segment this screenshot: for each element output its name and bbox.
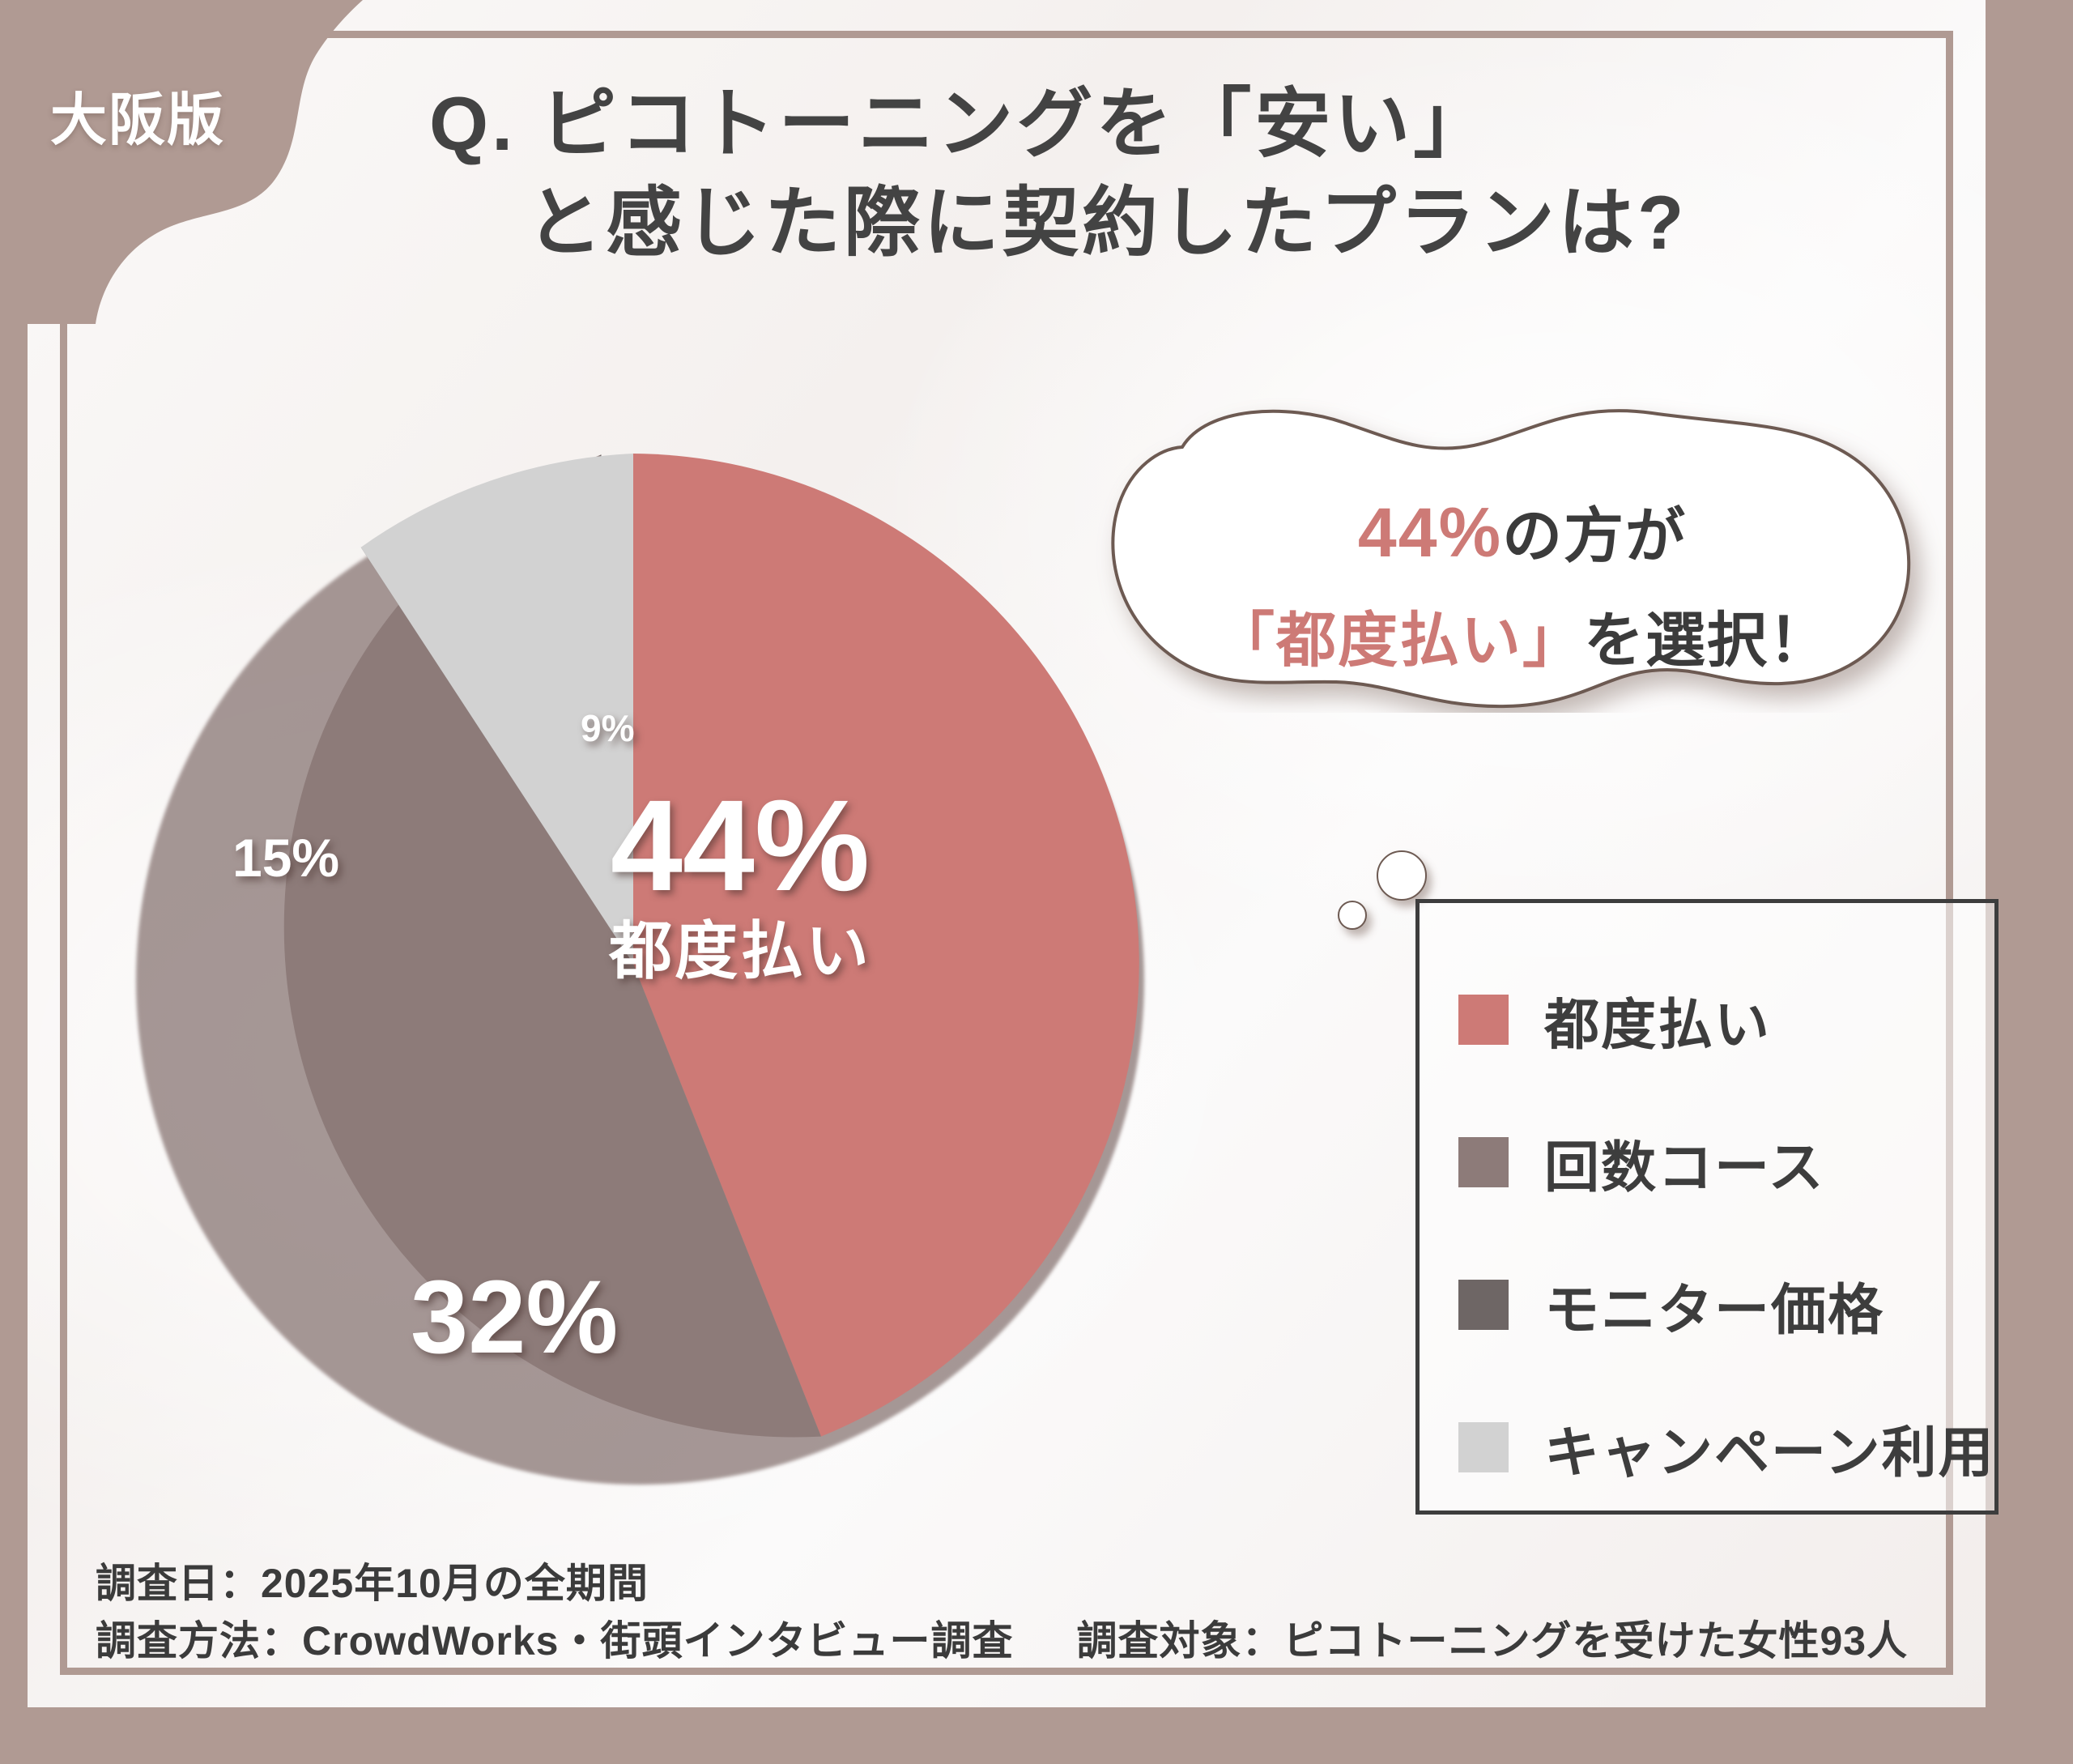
pie-label-todobarai-value: 44% <box>611 773 870 918</box>
callout-line-2: 「都度払い」を選択！ <box>1077 591 1968 690</box>
callout-bubble-text: 44%の方が 「都度払い」を選択！ <box>1077 476 1968 690</box>
legend-swatch-kaisu-course <box>1458 1137 1509 1187</box>
legend-label-kaisu-course: 回数コース <box>1544 1123 1825 1203</box>
callout-tail-dot-large <box>1377 850 1427 901</box>
callout-tail-dot-small <box>1338 901 1367 930</box>
legend-label-monitor-kakaku: モニター価格 <box>1544 1265 1884 1345</box>
legend-swatch-monitor-kakaku <box>1458 1280 1509 1330</box>
callout-line-2-rest: を選択！ <box>1584 607 1830 674</box>
pie-label-todobarai-sub: 都度払い <box>609 918 871 985</box>
pie-label-todobarai: 44% 都度払い <box>609 778 871 985</box>
pie-label-campaign: 9% <box>581 709 634 748</box>
legend-label-todobarai: 都度払い <box>1544 980 1771 1060</box>
legend-swatch-todobarai <box>1458 995 1509 1045</box>
callout-line-1: 44%の方が <box>1077 476 1968 591</box>
callout-quoted-plan: 「都度払い」 <box>1215 607 1584 674</box>
footer-survey-target: 調査対象：ピコトーニングを受けた女性93人 <box>1076 1613 1908 1670</box>
poster-root: 大阪版 Q. ピコトーニングを「安い」 と感じた際に契約したプランは? 44% … <box>0 0 2073 1764</box>
legend-swatch-campaign <box>1458 1422 1509 1472</box>
page-title-line-1: Q. ピコトーニングを「安い」 <box>405 75 1862 173</box>
region-badge-shape <box>0 0 397 324</box>
legend-item-kaisu-course[interactable]: 回数コース <box>1458 1091 1994 1234</box>
callout-bubble: 44%の方が 「都度払い」を選択！ <box>1077 389 1968 713</box>
footer-notes: 調査日：2025年10月の全期間 調査方法：CrowdWorks・街頭インタビュ… <box>96 1555 1958 1670</box>
pie-chart: 44% 都度払い 32% 15% 9% <box>123 454 1176 1506</box>
footer-survey-method: 調査方法：CrowdWorks・街頭インタビュー調査 <box>96 1613 1013 1670</box>
legend-item-campaign[interactable]: キャンペーン利用 <box>1458 1376 1994 1519</box>
page-title-line-2: と感じた際に契約したプランは? <box>405 173 1862 272</box>
footer-spacer <box>1013 1613 1076 1670</box>
region-badge-label: 大阪版 <box>50 75 225 156</box>
legend-label-campaign: キャンペーン利用 <box>1544 1408 1995 1488</box>
callout-percent: 44% <box>1358 494 1502 572</box>
footer-survey-method-row: 調査方法：CrowdWorks・街頭インタビュー調査 調査対象：ピコトーニングを… <box>96 1613 1958 1670</box>
footer-survey-date: 調査日：2025年10月の全期間 <box>96 1555 1958 1613</box>
pie-label-kaisu-course: 32% <box>411 1263 618 1372</box>
legend: 都度払い 回数コース モニター価格 キャンペーン利用 <box>1415 899 1999 1515</box>
pie-label-monitor-kakaku: 15% <box>232 830 339 886</box>
legend-item-monitor-kakaku[interactable]: モニター価格 <box>1458 1234 1994 1376</box>
legend-item-todobarai[interactable]: 都度払い <box>1458 948 1994 1091</box>
callout-after-percent: の方が <box>1502 502 1687 569</box>
page-title: Q. ピコトーニングを「安い」 と感じた際に契約したプランは? <box>405 75 1862 272</box>
